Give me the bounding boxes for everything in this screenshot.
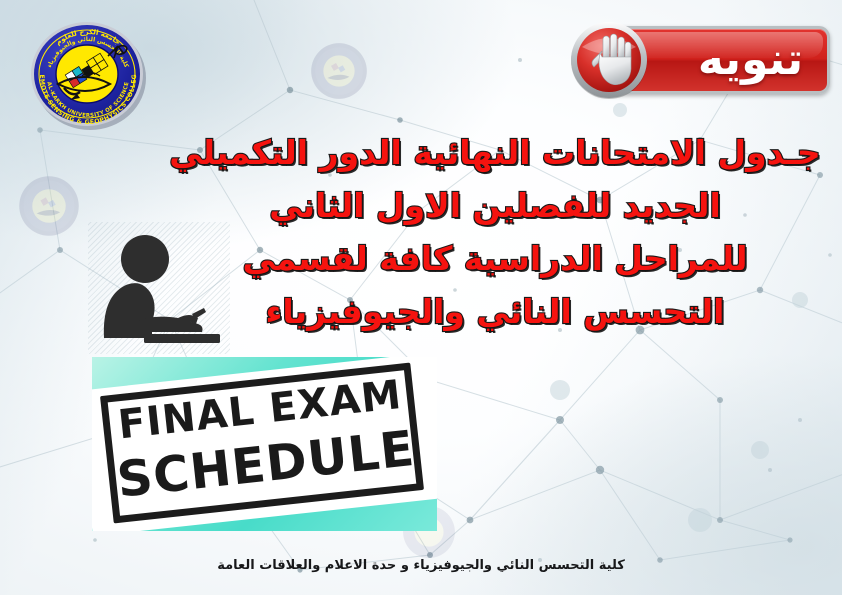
watermark-seal-top — [310, 42, 368, 100]
footer-credit: كلية التحسس النائي والجيوفيزياء و حدة ال… — [0, 556, 842, 576]
notice-banner: تنويه — [568, 19, 830, 101]
headline-line-4: التحسس النائي والجيوفيزياء — [150, 285, 840, 338]
headline-line-2: الجديد للفصلين الاول الثاني — [150, 179, 840, 232]
page-title: جـدول الامتحانات النهائية الدور التكميلي… — [150, 126, 840, 338]
final-exam-schedule-stamp: FINAL EXAM SCHEDULE — [92, 357, 437, 531]
student-writing-at-desk-icon — [92, 226, 224, 350]
headline-line-1: جـدول الامتحانات النهائية الدور التكميلي — [150, 126, 840, 179]
watermark-seal-left — [18, 175, 80, 237]
announcement-poster: جامعة الكرخ للعلوم كلية التحسس النائي وا… — [0, 0, 842, 595]
headline-line-3: للمراحل الدراسية كافة لقسمي — [150, 232, 840, 285]
notice-banner-label: تنويه — [678, 32, 823, 88]
college-seal-logo: جامعة الكرخ للعلوم كلية التحسس النائي وا… — [22, 14, 154, 132]
stop-hand-icon — [568, 19, 650, 101]
